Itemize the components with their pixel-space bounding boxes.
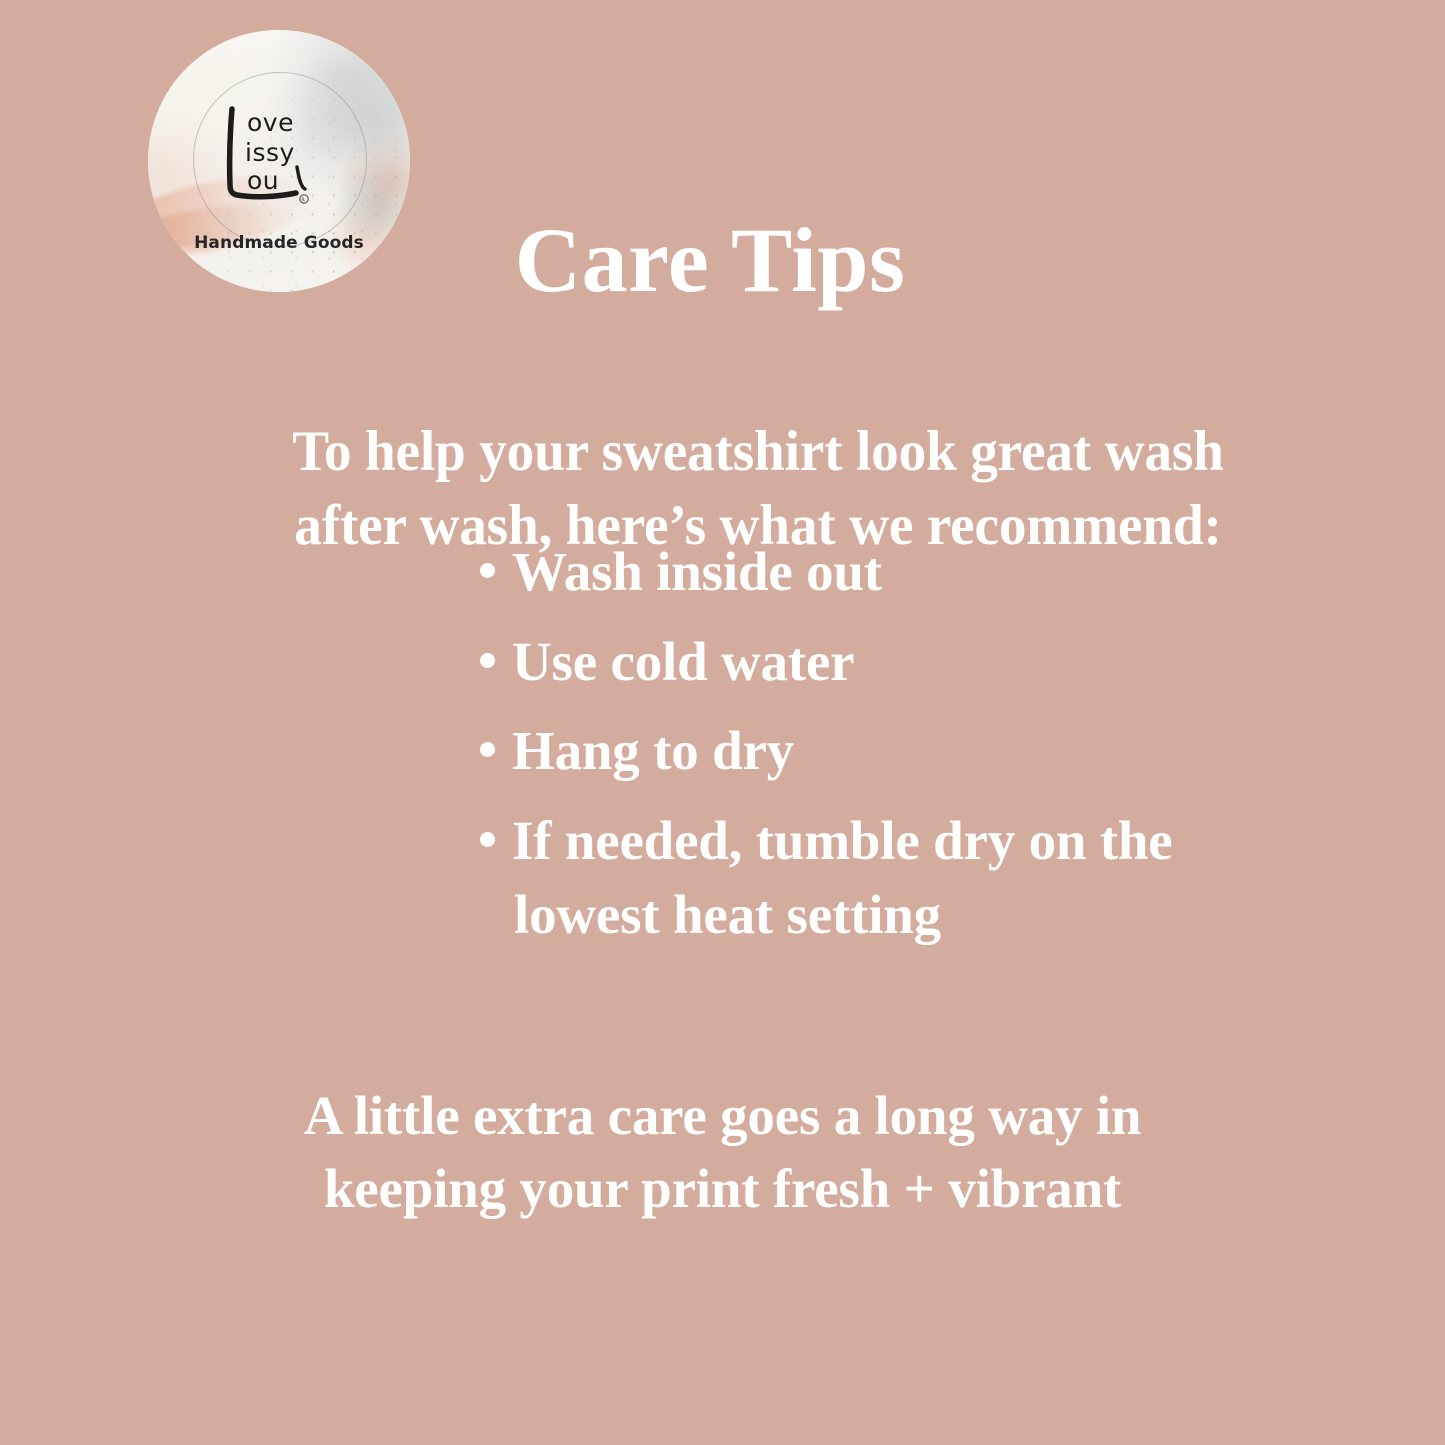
brand-logo-badge: ove issy ou R Handmade Goods	[148, 30, 410, 292]
page-title: Care Tips	[430, 212, 990, 309]
closing-paragraph: A little extra care goes a long way in k…	[240, 1079, 1205, 1225]
care-instructions-list: Wash inside out Use cold water Hang to d…	[480, 535, 1280, 951]
bullet-dot-icon	[480, 742, 495, 757]
bullet-dot-icon	[480, 653, 495, 668]
bullet-dot-icon	[480, 563, 495, 578]
logo-circle-outline	[193, 72, 368, 247]
logo-tagline: Handmade Goods	[148, 233, 410, 253]
list-item: Hang to dry	[480, 714, 1280, 788]
list-item-label: If needed, tumble dry on the lowest heat…	[512, 810, 1173, 945]
list-item-label: Use cold water	[512, 631, 854, 692]
list-item: Use cold water	[480, 625, 1280, 699]
list-item: If needed, tumble dry on the lowest heat…	[480, 804, 1280, 951]
care-tips-card: ove issy ou R Handmade Goods Care Tips T…	[0, 0, 1445, 1445]
list-item: Wash inside out	[480, 535, 1280, 609]
list-item-label: Hang to dry	[512, 720, 794, 781]
list-item-label: Wash inside out	[512, 541, 882, 602]
bullet-dot-icon	[480, 832, 495, 847]
